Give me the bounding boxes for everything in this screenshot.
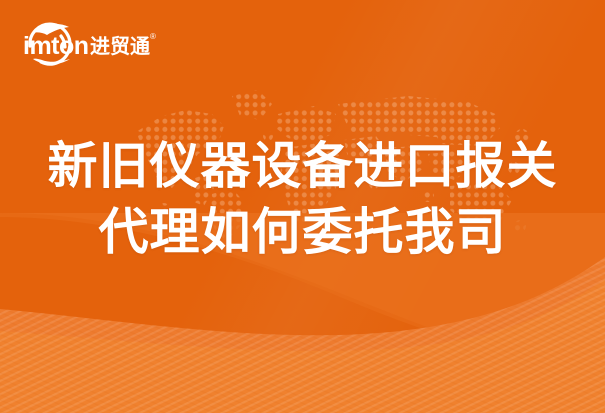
logo-chinese-name: 进贸通 [90,34,150,58]
title-line-1: 新旧仪器设备进口报关 [0,133,605,199]
registered-trademark-icon: ® [150,32,156,41]
logo-wordmark: imton [23,32,89,60]
title-line-2: 代理如何委托我司 [0,199,605,265]
company-logo[interactable]: imton 进贸通 ® [17,16,157,72]
page-title: 新旧仪器设备进口报关 代理如何委托我司 [0,133,605,265]
promo-banner: imton 进贸通 ® 新旧仪器设备进口报关 代理如何委托我司 [0,0,605,413]
